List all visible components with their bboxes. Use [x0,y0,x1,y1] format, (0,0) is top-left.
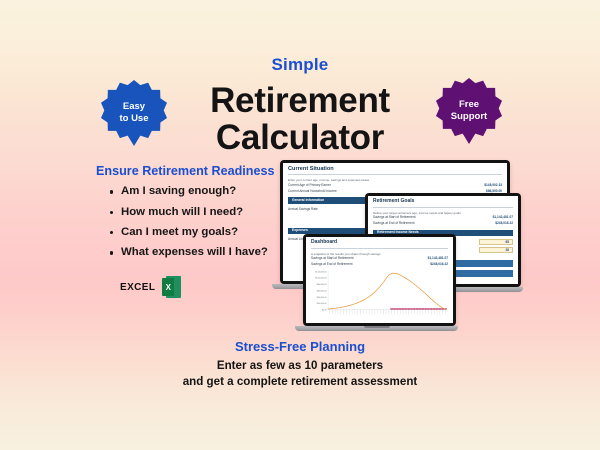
excel-icon: X [162,276,181,298]
svg-text:$0.00: $0.00 [322,309,326,311]
retirement-projection-chart: $1,200,000.00$1,000,000.00$800,000.00$60… [306,268,453,324]
row-label: Current Age of Primary Earner [288,183,331,187]
page-title-line2: Calculator [0,119,600,156]
svg-text:$200,000.00: $200,000.00 [317,303,327,305]
divider [373,207,513,208]
list-item: How much will I need? [110,207,306,218]
badge-easy-to-use: Easy to Use [101,80,167,146]
table-row: Savings at End of Retirement $248,016.22 [368,221,518,227]
svg-text:$800,000.00: $800,000.00 [317,283,327,285]
left-copy-block: Ensure Retirement Readiness Am I saving … [96,164,306,268]
question-list: Am I saving enough? How much will I need… [96,186,306,259]
row-value: $248,016.22 [495,221,513,225]
laptop-dashboard: Dashboard A snapshot of the results you … [303,234,458,331]
row-value: $248,016.22 [430,262,448,266]
page-title: Retirement Calculator [0,82,600,156]
bottom-copy-block: Stress-Free Planning Enter as few as 10 … [0,339,600,390]
left-section-heading: Ensure Retirement Readiness [96,164,306,179]
divider [288,174,502,175]
headline-kicker: Simple [0,56,600,73]
svg-text:$600,000.00: $600,000.00 [317,290,327,292]
row-input[interactable]: 28 [479,247,513,253]
bottom-subtext-line2: and get a complete retirement assessment [0,374,600,390]
bottom-subtext: Enter as few as 10 parameters and get a … [0,358,600,389]
list-item: Am I saving enough? [110,186,306,197]
row-label: Annual Savings Rate [288,207,318,214]
laptop-screen: Dashboard A snapshot of the results you … [306,237,453,323]
excel-icon-letter: X [162,278,174,296]
chart-svg: $1,200,000.00$1,000,000.00$800,000.00$60… [310,269,449,319]
badge-easy-line2: to Use [119,113,148,125]
headline-block: Simple Retirement Calculator [0,56,600,156]
badge-free-line2: Support [451,111,487,123]
sheet-title: Dashboard [306,237,453,248]
badge-free-support: Free Support [436,78,502,144]
spreadsheet-dashboard: Dashboard A snapshot of the results you … [306,237,453,323]
svg-text:$1,200,000.00: $1,200,000.00 [315,271,326,273]
excel-tag: EXCEL X [120,276,181,298]
laptop-bezel: Dashboard A snapshot of the results you … [303,234,456,326]
sheet-title: Retirement Goals [368,196,518,207]
list-item: What expenses will I have? [110,247,306,258]
row-value: $1,142,481.07 [493,215,513,219]
svg-text:$400,000.00: $400,000.00 [317,296,327,298]
excel-label: EXCEL [120,282,155,293]
row-label: Savings at End of Retirement [311,262,352,266]
svg-text:$1,000,000.00: $1,000,000.00 [315,277,326,279]
page-title-line1: Retirement [210,81,390,120]
row-value: $1,142,481.07 [428,256,448,260]
row-value: $148,902.33 [484,183,502,187]
row-label: Savings at Start of Retirement [373,215,416,219]
badge-easy-line1: Easy [119,101,148,113]
sheet-title: Current Situation [283,163,507,174]
row-label: Savings at Start of Retirement [311,256,354,260]
row-label: Savings at End of Retirement [373,221,414,225]
row-input[interactable]: 65 [479,239,513,245]
badge-free-line1: Free [451,99,487,111]
bottom-subtext-line1: Enter as few as 10 parameters [217,359,383,372]
divider [311,248,448,249]
bottom-heading: Stress-Free Planning [0,339,600,355]
poster-canvas: Easy to Use Free Support Simple Retireme… [0,0,600,450]
list-item: Can I meet my goals? [110,227,306,238]
laptop-base [295,326,458,331]
row-label: Current Annual Household Income [288,189,337,193]
